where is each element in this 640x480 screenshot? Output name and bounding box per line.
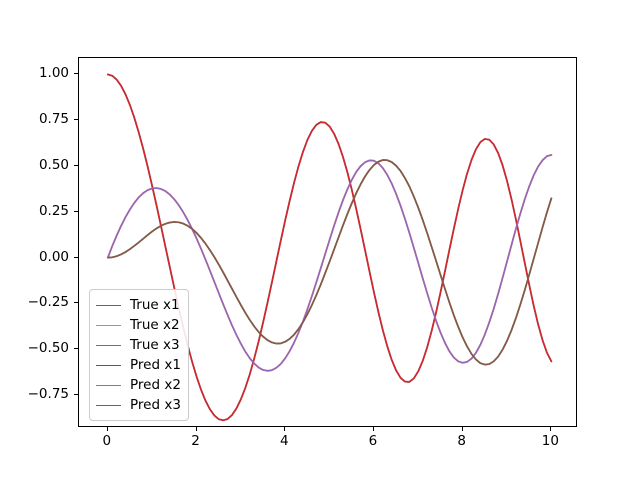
legend-color-swatch [96, 305, 121, 306]
legend-color-swatch [96, 325, 121, 326]
y-tick-label: 0.50 [0, 157, 69, 173]
y-tickmark [74, 394, 78, 395]
legend-item[interactable]: True x3 [96, 335, 181, 355]
x-tick-label: 4 [280, 433, 289, 449]
chart-legend[interactable]: True x1True x2True x3Pred x1Pred x2Pred … [89, 289, 189, 421]
legend-item[interactable]: Pred x2 [96, 375, 181, 395]
y-tickmark [74, 73, 78, 74]
x-tickmark [550, 427, 551, 431]
x-tick-label: 2 [191, 433, 200, 449]
x-tick-label: 8 [457, 433, 466, 449]
legend-color-swatch [96, 385, 121, 386]
y-tickmark [74, 211, 78, 212]
y-tick-label: −0.75 [0, 386, 69, 402]
y-tick-label: 0.25 [0, 203, 69, 219]
x-tickmark [373, 427, 374, 431]
legend-item-label: Pred x3 [130, 395, 181, 415]
y-tickmark [74, 348, 78, 349]
y-tickmark [74, 257, 78, 258]
legend-color-swatch [96, 345, 121, 346]
x-tick-label: 6 [369, 433, 378, 449]
x-tickmark [462, 427, 463, 431]
legend-item[interactable]: True x2 [96, 315, 181, 335]
x-tickmark [107, 427, 108, 431]
y-tick-label: 0.75 [0, 111, 69, 127]
legend-item-label: Pred x1 [130, 355, 181, 375]
y-tick-label: −0.25 [0, 294, 69, 310]
legend-item-label: True x1 [130, 295, 180, 315]
y-tick-label: −0.50 [0, 340, 69, 356]
legend-item-label: True x3 [130, 335, 180, 355]
y-tickmark [74, 302, 78, 303]
x-tick-label: 10 [542, 433, 559, 449]
x-tick-label: 0 [103, 433, 112, 449]
legend-item[interactable]: True x1 [96, 295, 181, 315]
legend-item[interactable]: Pred x3 [96, 395, 181, 415]
legend-color-swatch [96, 365, 121, 366]
y-tick-label: 0.00 [0, 249, 69, 265]
y-tickmark [74, 165, 78, 166]
legend-item-label: True x2 [130, 315, 180, 335]
legend-color-swatch [96, 405, 121, 406]
matplotlib-figure: 1.000.750.500.250.00−0.25−0.50−0.75 0246… [0, 0, 640, 480]
y-tick-label: 1.00 [0, 65, 69, 81]
legend-item-label: Pred x2 [130, 375, 181, 395]
x-tickmark [196, 427, 197, 431]
x-tickmark [284, 427, 285, 431]
y-tickmark [74, 119, 78, 120]
legend-item[interactable]: Pred x1 [96, 355, 181, 375]
